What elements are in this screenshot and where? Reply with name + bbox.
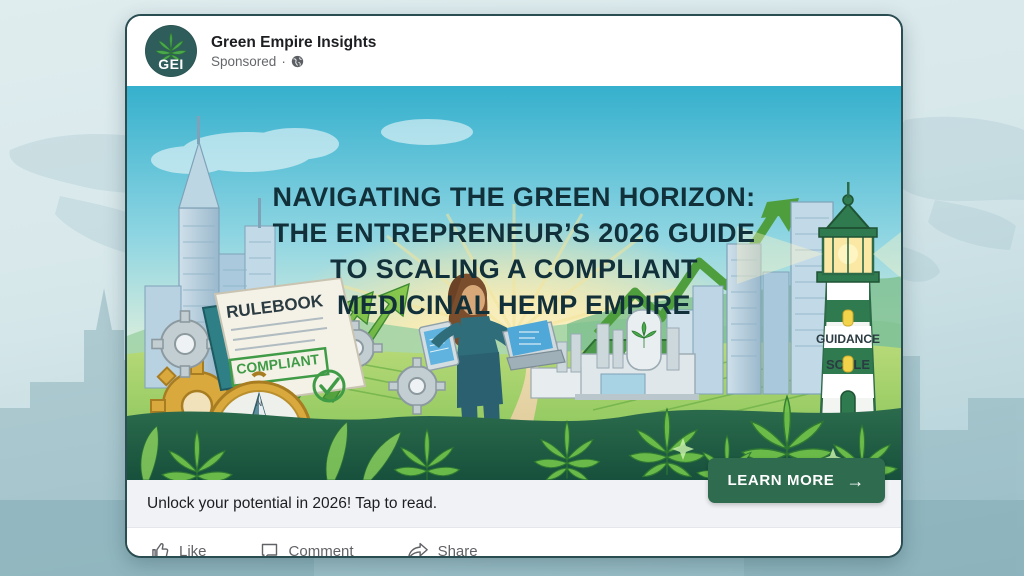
sponsored-post-card: GEI Green Empire Insights Sponsored · [125, 14, 903, 558]
svg-text:THE ENTREPRENEUR’S 2026 GUIDE: THE ENTREPRENEUR’S 2026 GUIDE [273, 218, 756, 248]
post-actions-bar: Like Comment Share [127, 527, 901, 558]
comment-bubble-icon [259, 541, 280, 559]
svg-text:MEDICINAL HEMP EMPIRE: MEDICINAL HEMP EMPIRE [337, 290, 691, 320]
separator-dot: · [281, 54, 286, 69]
arrow-right-icon: → [846, 472, 865, 490]
like-label: Like [179, 543, 207, 559]
globe-icon [291, 55, 304, 68]
svg-text:TO SCALING A COMPLIANT: TO SCALING A COMPLIANT [330, 254, 698, 284]
svg-text:N: N [256, 398, 263, 408]
brand-name[interactable]: Green Empire Insights [211, 33, 376, 52]
comment-action[interactable]: Comment [259, 541, 354, 559]
avatar[interactable]: GEI [145, 25, 197, 77]
svg-text:NAVIGATING THE GREEN HORIZON:: NAVIGATING THE GREEN HORIZON: [272, 182, 755, 212]
share-label: Share [438, 543, 478, 559]
caption-bar: Unlock your potential in 2026! Tap to re… [127, 480, 901, 527]
share-arrow-icon [406, 541, 429, 559]
share-action[interactable]: Share [406, 541, 478, 559]
ad-creative-illustration[interactable]: 2026 [127, 86, 901, 480]
lighthouse-guidance-text: GUIDANCE [816, 332, 880, 346]
thumbs-up-icon [149, 541, 170, 559]
illustration-canvas: 2026 [127, 86, 901, 480]
learn-more-label: LEARN MORE [728, 472, 835, 489]
like-action[interactable]: Like [149, 541, 207, 559]
sponsored-label: Sponsored [211, 54, 276, 69]
sponsored-row: Sponsored · [211, 54, 376, 69]
post-header: GEI Green Empire Insights Sponsored · [127, 16, 901, 86]
learn-more-button[interactable]: LEARN MORE → [708, 458, 885, 503]
screen: GEI Green Empire Insights Sponsored · [0, 0, 1024, 576]
avatar-monogram: GEI [145, 56, 197, 72]
post-header-text: Green Empire Insights Sponsored · [211, 33, 376, 68]
comment-label: Comment [289, 543, 354, 559]
